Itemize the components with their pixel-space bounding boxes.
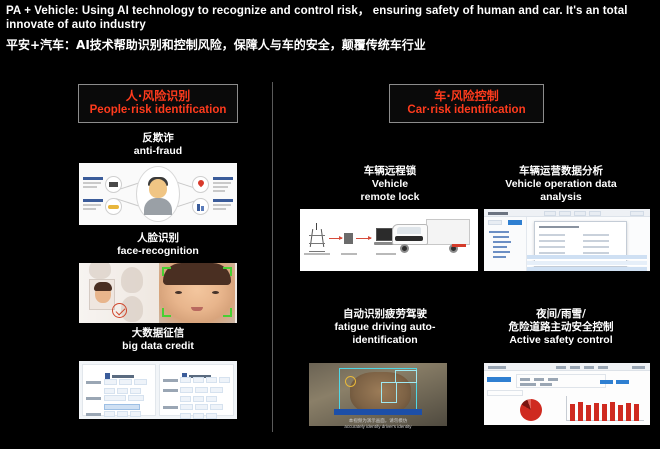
detection-bracket-icon [223, 308, 232, 317]
tree-node[interactable] [489, 231, 509, 233]
caption-big-data-credit: 大数据征信 big data credit [78, 327, 238, 353]
filter-label [540, 383, 552, 386]
node-icon-identity [105, 176, 122, 193]
truck-illustration [392, 219, 470, 255]
live-face-mouth [191, 307, 203, 311]
mouth-tracking-box [381, 382, 398, 404]
caption-active-safety-en: Active safety control [470, 334, 652, 347]
caption-anti-fraud: 反欺诈 anti-fraud [78, 132, 238, 158]
table-row[interactable] [527, 267, 647, 271]
tag-chip[interactable] [134, 379, 147, 385]
node-label [213, 199, 233, 212]
incident-bar-chart [566, 396, 644, 421]
video-subtitle-bar [334, 409, 422, 415]
tag-chip[interactable] [130, 388, 141, 394]
tag-chip[interactable] [130, 411, 141, 417]
tag-chip[interactable] [180, 404, 193, 410]
dialog-field [583, 252, 609, 254]
dashboard-toolbar [484, 363, 650, 371]
bar [578, 402, 583, 421]
tag-chip[interactable] [104, 379, 117, 385]
bar [626, 403, 631, 421]
dashboard-logo [488, 366, 506, 369]
caption-operation-data-cn: 车辆运营数据分析 [470, 165, 652, 178]
media-anti-fraud-network-diagram [79, 163, 237, 225]
dialog-title [539, 226, 579, 228]
media-remote-lock-diagram [300, 209, 478, 271]
section-title-people-cn: 人·风险识别 [87, 89, 229, 103]
tag-chip[interactable] [117, 388, 128, 394]
bar [602, 404, 607, 421]
live-face-eye [212, 291, 219, 294]
nav-item[interactable] [570, 366, 580, 369]
toolbar-button[interactable] [589, 211, 601, 216]
signal-arrow-icon [329, 238, 342, 239]
caption-operation-data-en-line2: analysis [470, 191, 652, 204]
caption-remote-lock-en-line1: Vehicle [300, 178, 480, 191]
dialog-field [583, 240, 609, 242]
face-gallery [79, 263, 161, 323]
avatar-head [149, 179, 167, 198]
section-title-people-risk: 人·风险识别 People·risk identification [78, 84, 238, 123]
caption-active-safety-cn-line1: 夜间/雨雪/ [470, 308, 652, 321]
row-label [163, 389, 178, 392]
dialog-field [583, 246, 609, 248]
header-english-line1: PA + Vehicle: Using AI technology to rec… [6, 4, 656, 18]
tree-node[interactable] [493, 246, 507, 248]
video-subtitle-line2: accurately identify driver's identity [294, 424, 462, 430]
header-chinese: 平安+汽车：AI技术帮助识别和控制风险，保障人与车的安全，颠覆传统车行业 [6, 38, 656, 53]
tree-node[interactable] [493, 251, 510, 253]
dialog-field [539, 252, 565, 254]
node-icon-location [192, 176, 209, 193]
live-face-capture [159, 263, 235, 323]
match-check-icon [112, 303, 127, 318]
caption-big-data-credit-cn: 大数据征信 [78, 327, 238, 340]
sidebar-button-active[interactable] [508, 220, 522, 225]
filter-label [548, 378, 558, 381]
bar [586, 405, 591, 421]
toolbar-button[interactable] [574, 211, 586, 216]
toolbar-button[interactable] [630, 211, 644, 216]
tower-antenna [316, 223, 317, 230]
caption-remote-lock-cn: 车辆远程锁 [300, 165, 480, 178]
dialog-field [539, 240, 565, 242]
truck-windshield [397, 227, 421, 234]
nav-item[interactable] [598, 366, 608, 369]
chart-y-axis [566, 396, 567, 421]
thumbnail-hair [94, 282, 112, 291]
table-row[interactable] [527, 255, 647, 260]
tag-chip[interactable] [210, 387, 223, 393]
caption-face-recognition-cn: 人脸识别 [78, 232, 238, 245]
column-divider [272, 82, 273, 432]
eye-marker-icon [345, 376, 356, 387]
tag-chip[interactable] [180, 396, 191, 402]
node-label [213, 177, 233, 194]
section-title-car-risk: 车·风险控制 Car·risk identification [389, 84, 544, 123]
live-face-hair [163, 263, 231, 285]
dialog-field [583, 234, 609, 236]
row-label [86, 397, 101, 400]
truck-stripe [452, 244, 466, 247]
diagram-label [341, 253, 357, 255]
caption-active-safety-cn-line2: 危险道路主动安全控制 [470, 321, 652, 334]
eye-tracking-box [395, 370, 417, 383]
caption-active-safety-control: 夜间/雨雪/ 危险道路主动安全控制 Active safety control [470, 308, 652, 347]
media-big-data-credit-dashboard [79, 361, 237, 419]
panel-header-text [112, 375, 134, 378]
video-frame [309, 363, 447, 426]
truck-grille [395, 236, 423, 241]
detection-bracket-icon [223, 267, 232, 276]
tag-chip[interactable] [206, 377, 217, 383]
header-english-line2: innovate of auto industry [6, 18, 656, 32]
caption-vehicle-operation-data: 车辆运营数据分析 Vehicle operation data analysis [470, 165, 652, 204]
caption-face-recognition: 人脸识别 face-recognition [78, 232, 238, 258]
tag-chip[interactable] [104, 395, 126, 401]
telematics-device-icon [344, 233, 353, 244]
tower-leg [310, 229, 313, 247]
app-logo [488, 212, 508, 215]
nav-item[interactable] [584, 366, 594, 369]
tag-chip[interactable] [180, 377, 191, 383]
tag-chip[interactable] [195, 404, 208, 410]
ghost-face [89, 263, 111, 279]
tag-chip[interactable] [195, 387, 208, 393]
credit-panel-enterprise [82, 364, 156, 416]
tag-chip[interactable] [206, 413, 217, 419]
bar [570, 404, 575, 421]
live-face-eye [175, 291, 182, 294]
filter-label [520, 378, 530, 381]
detection-bracket-icon [162, 308, 171, 317]
media-fatigue-driving-video-frame: 本视频为演示画面，请勿模仿 accurately identify driver… [294, 360, 462, 432]
tower-brace [309, 243, 325, 244]
nav-item[interactable] [556, 366, 566, 369]
signal-arrow-icon [356, 238, 371, 239]
credit-panel-personal [159, 364, 234, 416]
risk-pie-chart [520, 399, 542, 421]
caption-fatigue-driving-cn: 自动识别疲劳驾驶 [295, 308, 475, 321]
tag-chip[interactable] [210, 404, 223, 410]
bar [610, 402, 615, 421]
node-icon-work [192, 198, 209, 215]
caption-face-recognition-en: face-recognition [78, 245, 238, 258]
dialog-field [539, 246, 565, 248]
tag-chip[interactable] [104, 411, 115, 417]
caption-anti-fraud-cn: 反欺诈 [78, 132, 238, 145]
row-label [163, 379, 178, 382]
tag-chip[interactable] [104, 388, 115, 394]
media-face-recognition-match-photo [79, 263, 237, 323]
cell-tower-icon [308, 223, 326, 247]
search-field[interactable] [487, 390, 523, 396]
tag-chip[interactable] [193, 377, 204, 383]
bar [618, 405, 623, 421]
caption-remote-lock-en-line2: remote lock [300, 191, 480, 204]
media-active-safety-dashboard [484, 363, 650, 425]
truck-cab [392, 224, 428, 245]
slide-header: PA + Vehicle: Using AI technology to rec… [6, 4, 656, 53]
bar [634, 404, 639, 421]
detection-bracket-icon [162, 267, 171, 276]
truck-cargo-box [426, 219, 470, 245]
sidebar-menu-active[interactable] [487, 377, 511, 382]
filter-label [520, 383, 536, 386]
tag-chip[interactable] [219, 377, 230, 383]
chart-tab[interactable] [600, 380, 613, 384]
slide-root: PA + Vehicle: Using AI technology to rec… [0, 0, 660, 449]
tree-sidebar [484, 217, 527, 271]
caption-fatigue-driving: 自动识别疲劳驾驶 fatigue driving auto- identific… [295, 308, 475, 347]
media-vehicle-operation-data-screenshot [484, 209, 650, 271]
node-icon-vehicle [105, 198, 122, 215]
tree-node[interactable] [493, 241, 511, 243]
tower-brace [309, 251, 325, 252]
caption-big-data-credit-en: big data credit [78, 340, 238, 353]
video-subtitle-text: 本视频为演示画面，请勿模仿 accurately identify driver… [294, 418, 462, 430]
nav-item[interactable] [632, 366, 645, 369]
tag-chip[interactable] [180, 387, 193, 393]
bar [594, 403, 599, 421]
truck-wheel [400, 244, 409, 253]
toolbar-button[interactable] [559, 211, 571, 216]
chart-tab[interactable] [616, 380, 629, 384]
section-title-car-cn: 车·风险控制 [398, 89, 535, 103]
caption-vehicle-remote-lock: 车辆远程锁 Vehicle remote lock [300, 165, 480, 204]
tag-chip[interactable] [180, 413, 191, 419]
sidebar-button[interactable] [488, 220, 502, 225]
ghost-face [121, 267, 143, 293]
toolbar-button[interactable] [544, 211, 556, 216]
tag-chip[interactable] [119, 379, 132, 385]
row-label [86, 413, 101, 416]
dialog-field [539, 234, 565, 236]
tower-leg [321, 229, 324, 247]
section-title-car-en: Car·risk identification [398, 103, 535, 117]
tag-chip[interactable] [193, 413, 204, 419]
tower-brace [309, 235, 325, 236]
caption-fatigue-driving-en-line2: identification [295, 334, 475, 347]
tag-chip[interactable] [193, 396, 204, 402]
tag-chip-selected[interactable] [104, 404, 140, 410]
tree-node[interactable] [493, 256, 506, 258]
row-label [163, 406, 178, 409]
matched-thumbnail [89, 279, 115, 310]
caption-fatigue-driving-en-line1: fatigue driving auto- [295, 321, 475, 334]
person-avatar [136, 166, 180, 222]
tag-chip[interactable] [117, 411, 128, 417]
tag-chip[interactable] [128, 395, 144, 401]
node-label [83, 177, 103, 190]
diagram-label [304, 253, 330, 255]
caption-anti-fraud-en: anti-fraud [78, 145, 238, 158]
table-row[interactable] [527, 261, 647, 266]
row-label [86, 381, 101, 384]
tree-node[interactable] [493, 236, 509, 238]
tag-chip[interactable] [206, 396, 217, 402]
avatar-body [144, 198, 172, 215]
node-label [83, 199, 103, 212]
section-title-people-en: People·risk identification [87, 103, 229, 117]
caption-operation-data-en-line1: Vehicle operation data [470, 178, 652, 191]
filter-label [534, 378, 544, 381]
